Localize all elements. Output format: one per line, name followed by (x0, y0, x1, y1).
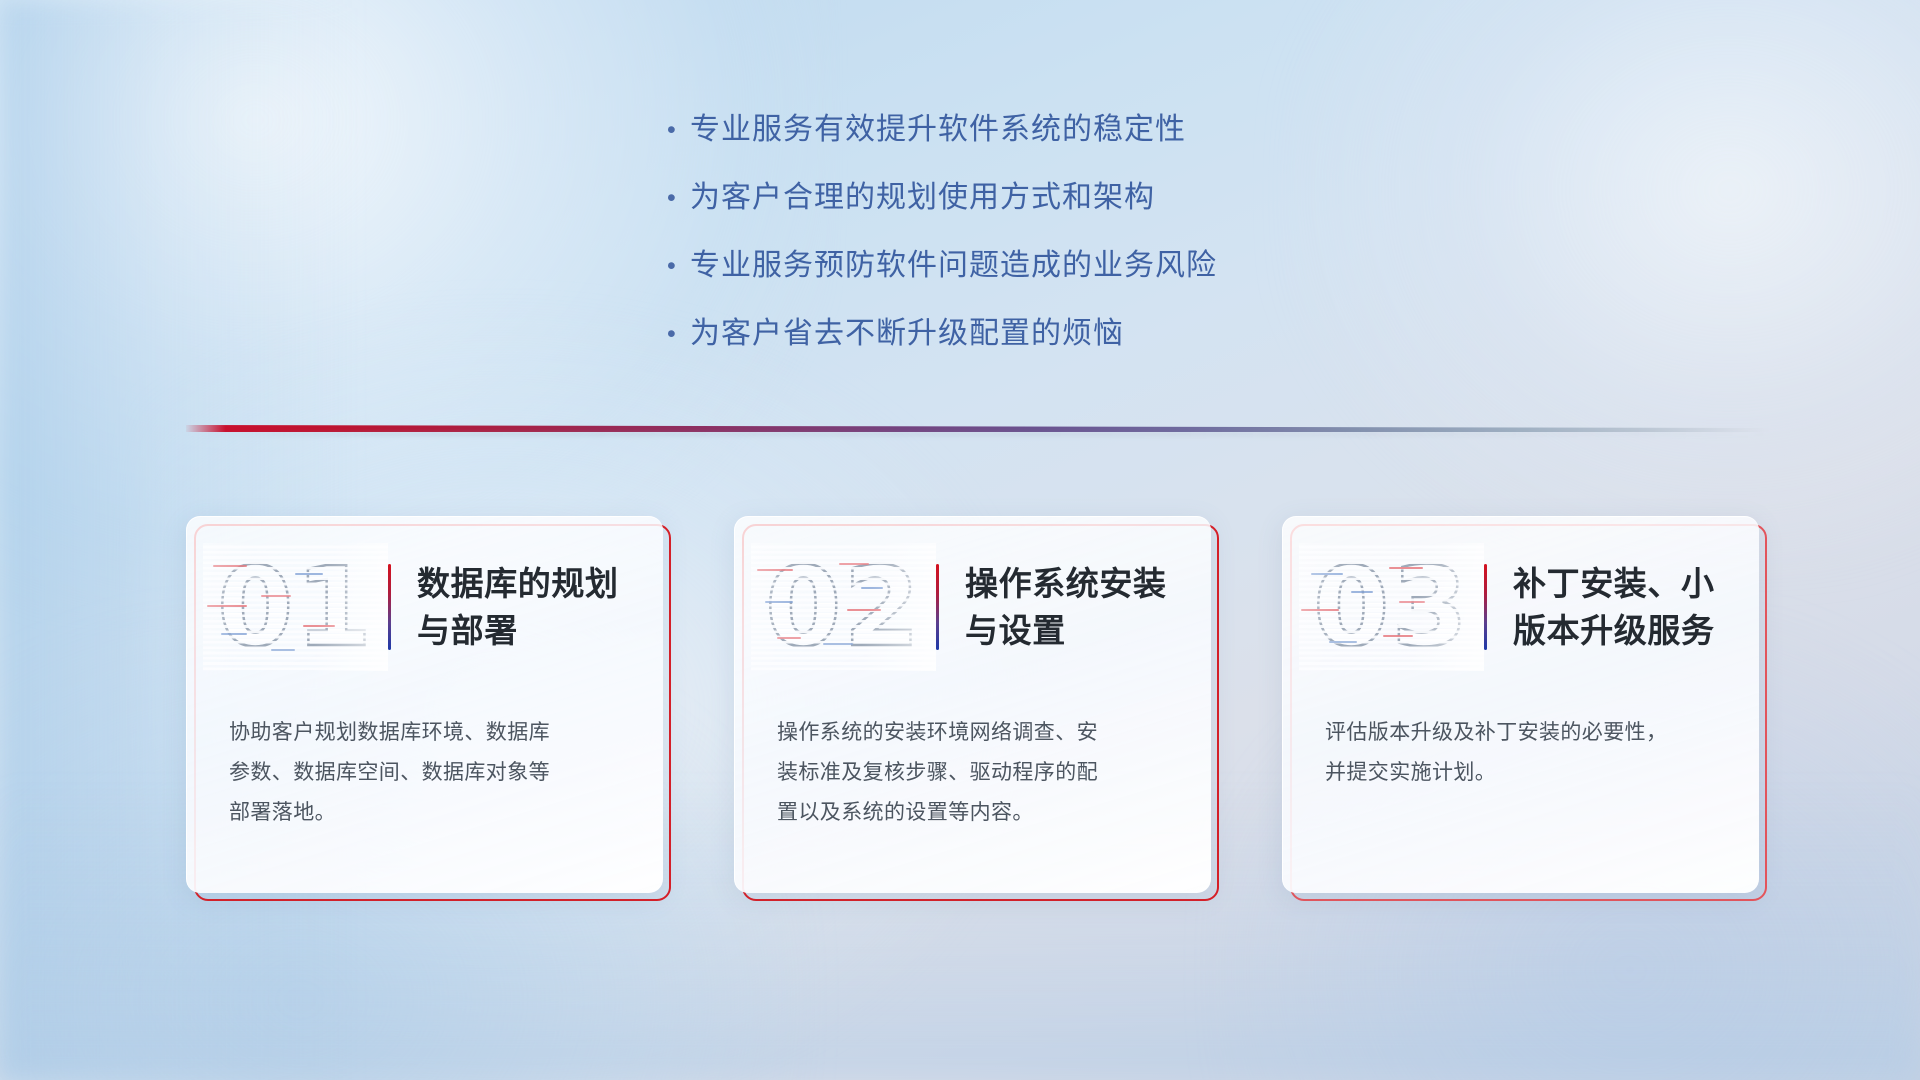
card-number-badge: 02 (751, 543, 936, 671)
card-title-line-2: 与部署 (417, 607, 645, 654)
section-divider (186, 425, 1771, 439)
card-description: 操作系统的安装环境网络调查、安 装标准及复核步骤、驱动程序的配 置以及系统的设置… (777, 713, 1172, 833)
slide-canvas: • 专业服务有效提升软件系统的稳定性 • 为客户合理的规划使用方式和架构 • 专… (0, 0, 1920, 1080)
card-number-glyph: 02 (765, 543, 922, 671)
bullet-point-icon: • (664, 246, 690, 286)
card-description: 评估版本升级及补丁安装的必要性， 并提交实施计划。 (1325, 713, 1720, 793)
card-desc-line-3: 部署落地。 (229, 793, 624, 833)
bullet-item-3: • 专业服务预防软件问题造成的业务风险 (664, 246, 1424, 286)
card-title: 数据库的规划 与部署 (417, 560, 663, 654)
bullet-item-1: • 专业服务有效提升软件系统的稳定性 (664, 110, 1424, 150)
card-title: 补丁安装、小 版本升级服务 (1513, 560, 1759, 654)
bullet-point-icon: • (664, 314, 690, 354)
card-accent-bar (936, 564, 939, 650)
card-header: 02 (735, 537, 1211, 677)
bullet-point-icon: • (664, 178, 690, 218)
bullet-item-2: • 为客户合理的规划使用方式和架构 (664, 178, 1424, 218)
divider-gradient-rule (186, 425, 1771, 432)
card-header: 03 (1283, 537, 1759, 677)
card-desc-line-2: 参数、数据库空间、数据库对象等 (229, 753, 624, 793)
service-card-01[interactable]: 01 (186, 516, 671, 901)
card-desc-line-2: 并提交实施计划。 (1325, 753, 1720, 793)
card-header: 01 (187, 537, 663, 677)
card-title-line-2: 版本升级服务 (1513, 607, 1741, 654)
card-desc-line-1: 操作系统的安装环境网络调查、安 (777, 713, 1172, 753)
card-title-line-1: 操作系统安装 (965, 560, 1193, 607)
card-panel: 01 (186, 516, 663, 893)
bullet-item-label: 为客户合理的规划使用方式和架构 (690, 178, 1155, 218)
card-accent-bar (388, 564, 391, 650)
card-number-glyph: 03 (1313, 543, 1470, 671)
card-panel: 02 (734, 516, 1211, 893)
card-desc-line-1: 评估版本升级及补丁安装的必要性， (1325, 713, 1720, 753)
card-title: 操作系统安装 与设置 (965, 560, 1211, 654)
bullet-item-label: 专业服务预防软件问题造成的业务风险 (690, 246, 1217, 286)
card-title-line-1: 数据库的规划 (417, 560, 645, 607)
bullet-item-4: • 为客户省去不断升级配置的烦恼 (664, 314, 1424, 354)
card-desc-line-1: 协助客户规划数据库环境、数据库 (229, 713, 624, 753)
service-card-row: 01 (0, 516, 1920, 936)
card-description: 协助客户规划数据库环境、数据库 参数、数据库空间、数据库对象等 部署落地。 (229, 713, 624, 833)
card-accent-bar (1484, 564, 1487, 650)
card-desc-line-2: 装标准及复核步骤、驱动程序的配 (777, 753, 1172, 793)
bullet-item-label: 专业服务有效提升软件系统的稳定性 (690, 110, 1186, 150)
benefits-bullet-list: • 专业服务有效提升软件系统的稳定性 • 为客户合理的规划使用方式和架构 • 专… (664, 110, 1424, 382)
card-desc-line-3: 置以及系统的设置等内容。 (777, 793, 1172, 833)
card-number-badge: 03 (1299, 543, 1484, 671)
service-card-03[interactable]: 03 (1282, 516, 1767, 901)
card-number-glyph: 01 (217, 543, 374, 671)
card-number-badge: 01 (203, 543, 388, 671)
card-panel: 03 (1282, 516, 1759, 893)
card-title-line-2: 与设置 (965, 607, 1193, 654)
bullet-item-label: 为客户省去不断升级配置的烦恼 (690, 314, 1124, 354)
bullet-point-icon: • (664, 110, 690, 150)
service-card-02[interactable]: 02 (734, 516, 1219, 901)
card-title-line-1: 补丁安装、小 (1513, 560, 1741, 607)
divider-shadow (186, 432, 1771, 436)
